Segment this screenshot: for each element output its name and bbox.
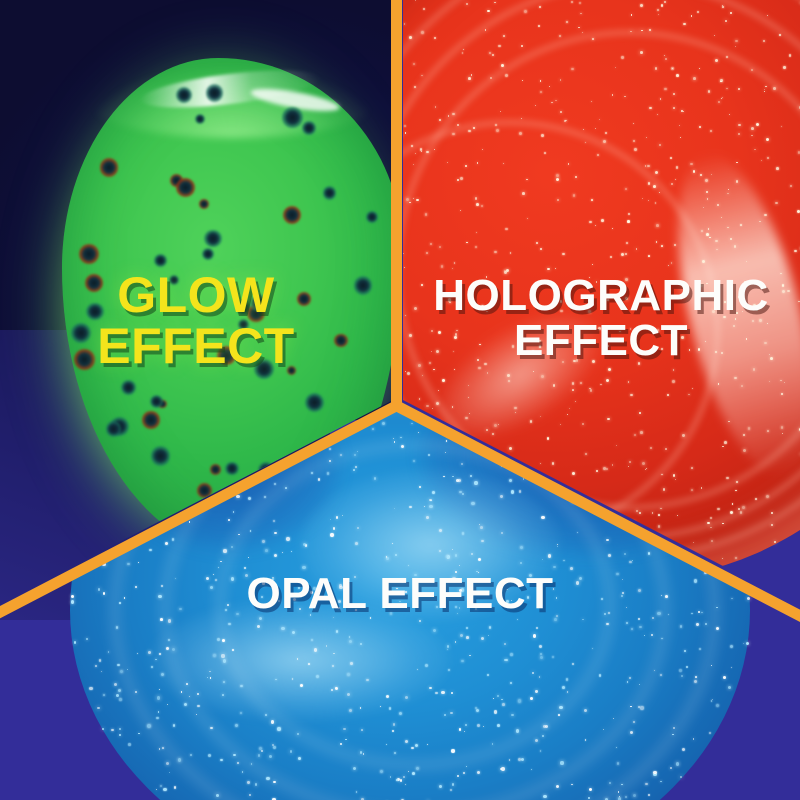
- opal-lower-sheen: [150, 600, 450, 720]
- label-holographic-line1: HOLOGRAPHIC: [433, 271, 769, 320]
- label-opal-effect: OPAL EFFECT: [0, 572, 800, 617]
- label-glow-line2: EFFECT: [0, 321, 392, 372]
- label-opal-line1: OPAL EFFECT: [247, 569, 554, 618]
- label-glow-effect: GLOW EFFECT: [0, 270, 392, 372]
- effects-triptych-image: GLOW EFFECT HOLOGRAPHIC EFFECT OPAL EFFE…: [0, 0, 800, 800]
- label-holographic-effect: HOLOGRAPHIC EFFECT: [402, 274, 800, 364]
- divider-vertical: [391, 0, 402, 408]
- label-glow-line1: GLOW: [117, 267, 275, 323]
- label-holographic-line2: EFFECT: [402, 319, 800, 364]
